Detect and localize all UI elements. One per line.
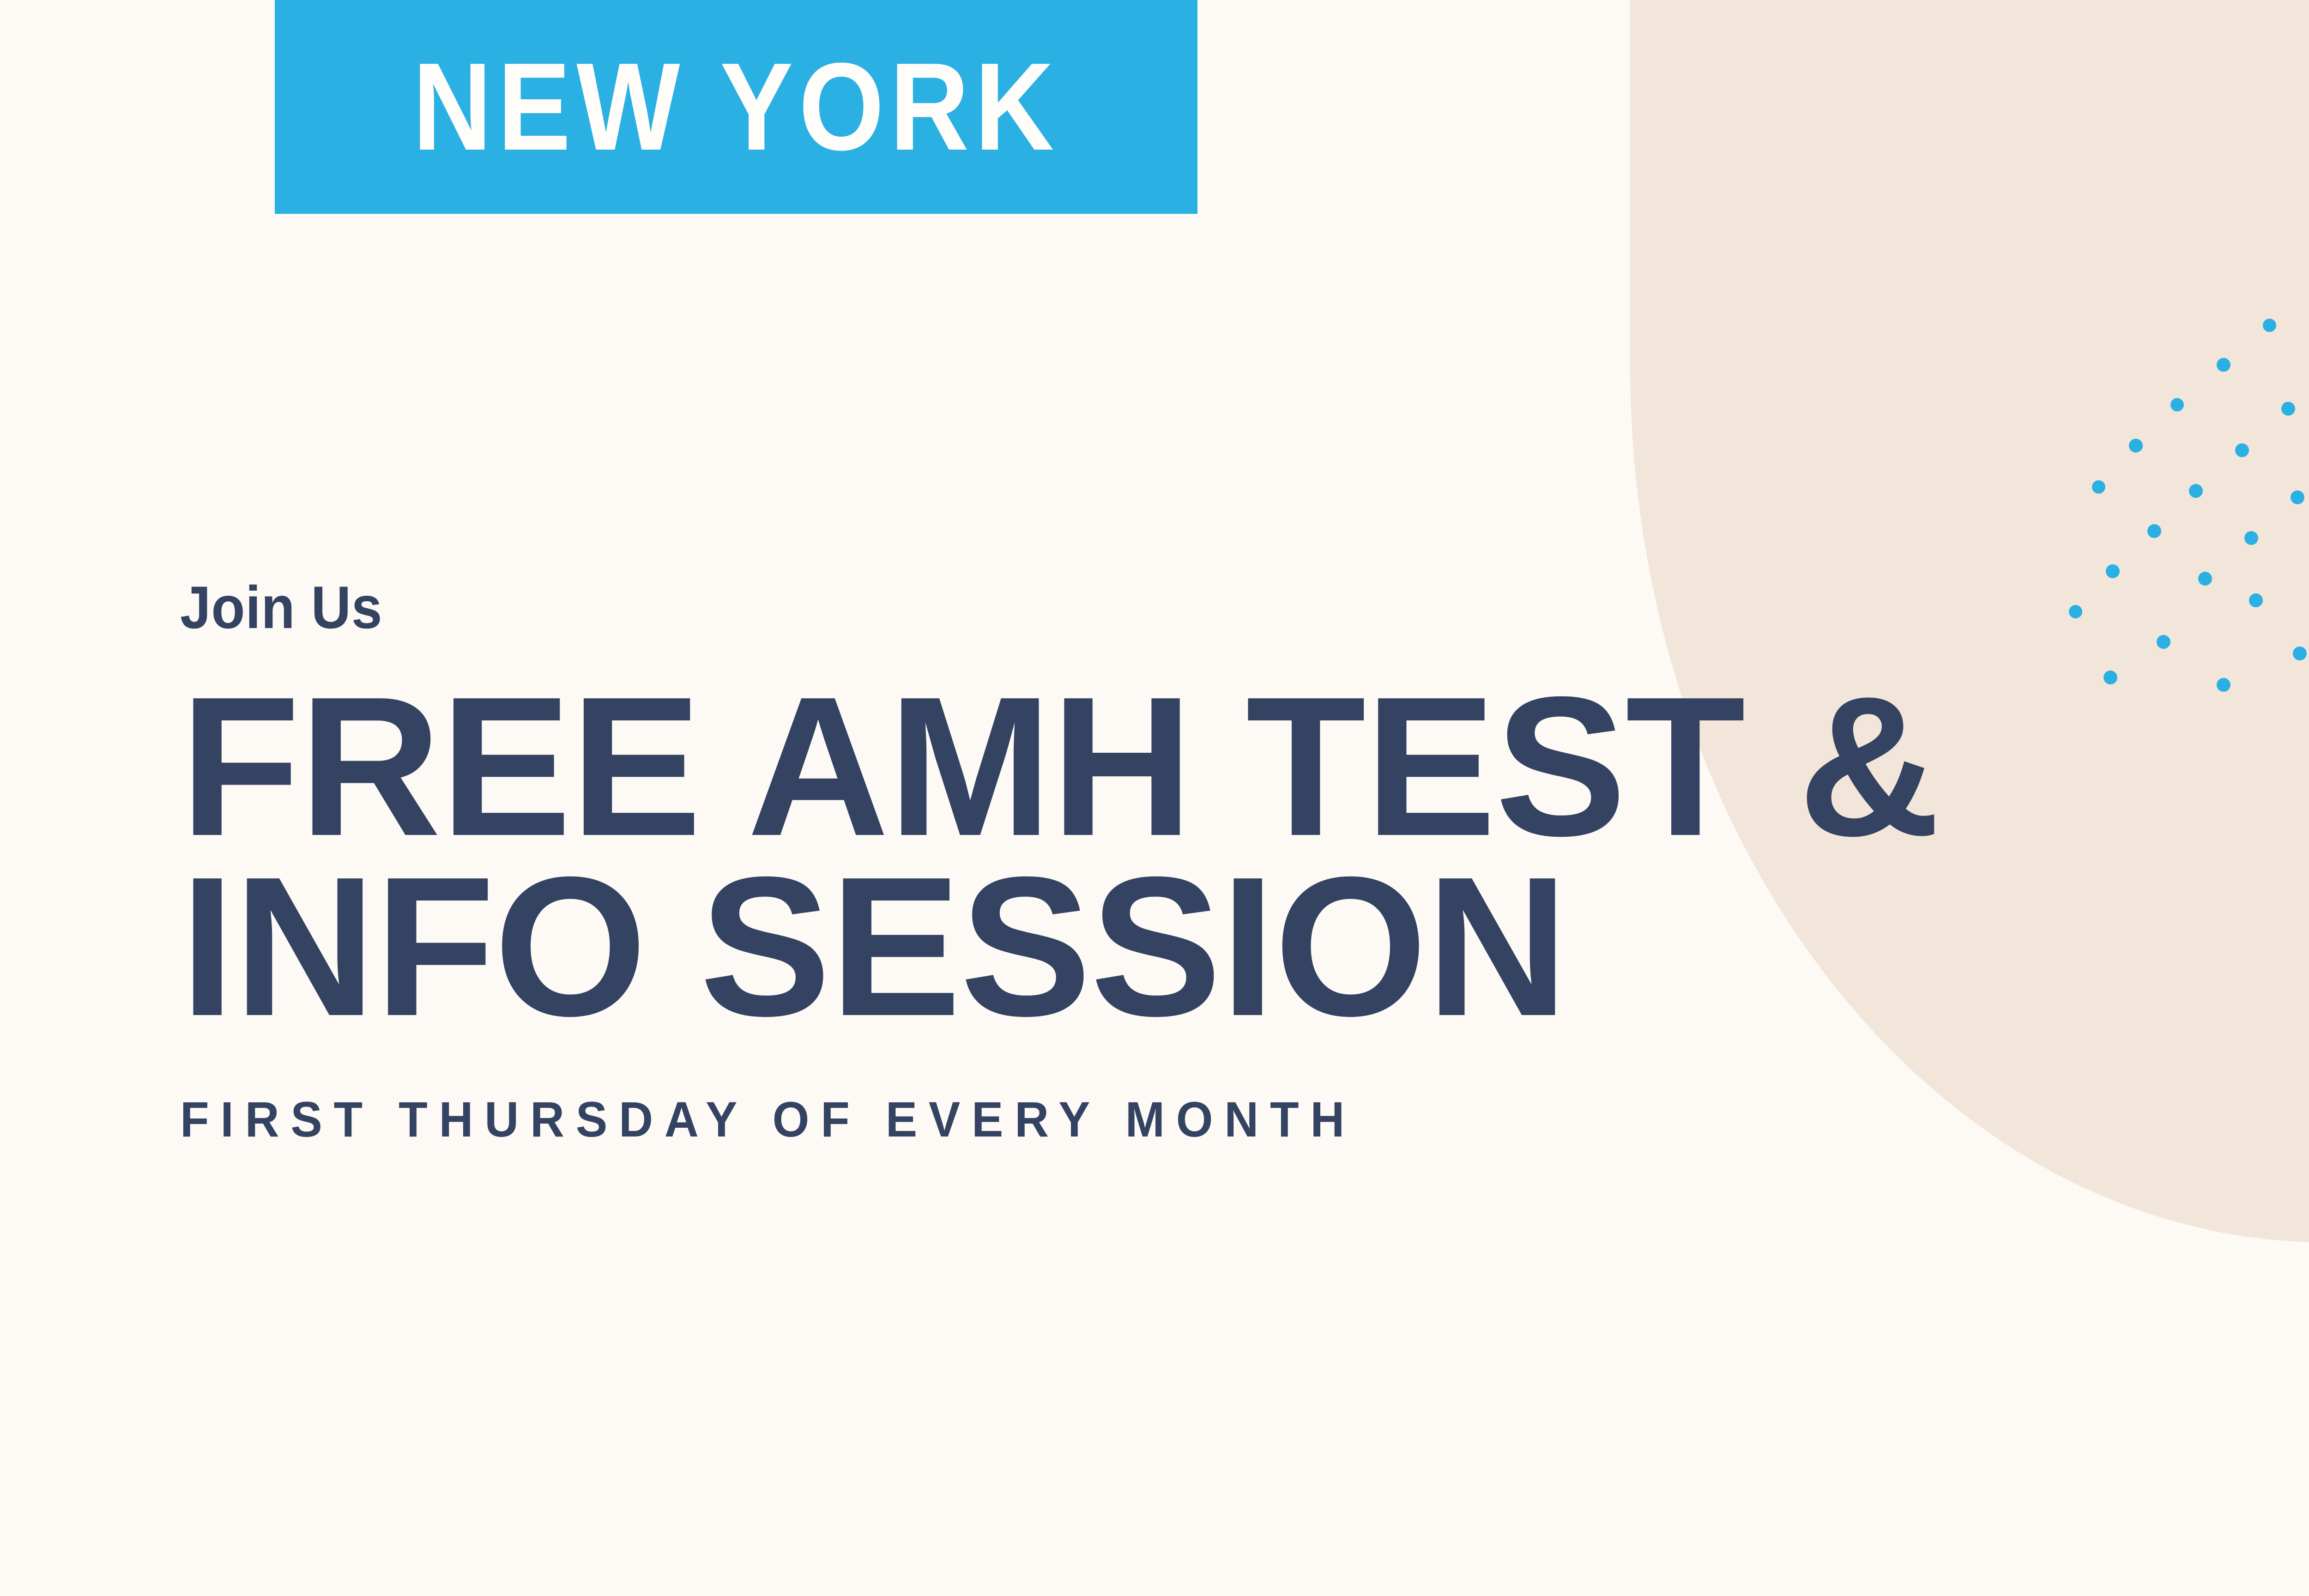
- headline-line-1: FREE AMH TEST &: [180, 673, 2192, 860]
- city-badge: NEW YORK: [275, 0, 1197, 214]
- tagline-text: FIRST THURSDAY OF EVERY MONTH: [180, 1094, 2110, 1144]
- copy-block: Join Us FREE AMH TEST & INFO SESSION FIR…: [180, 577, 2212, 1144]
- headline-line-2: INFO SESSION: [180, 853, 2192, 1040]
- city-badge-label: NEW YORK: [412, 45, 1059, 169]
- promotional-banner: NEW YORK Join Us FREE AMH TEST & INFO SE…: [0, 0, 2309, 1596]
- eyebrow-text: Join Us: [180, 577, 2049, 637]
